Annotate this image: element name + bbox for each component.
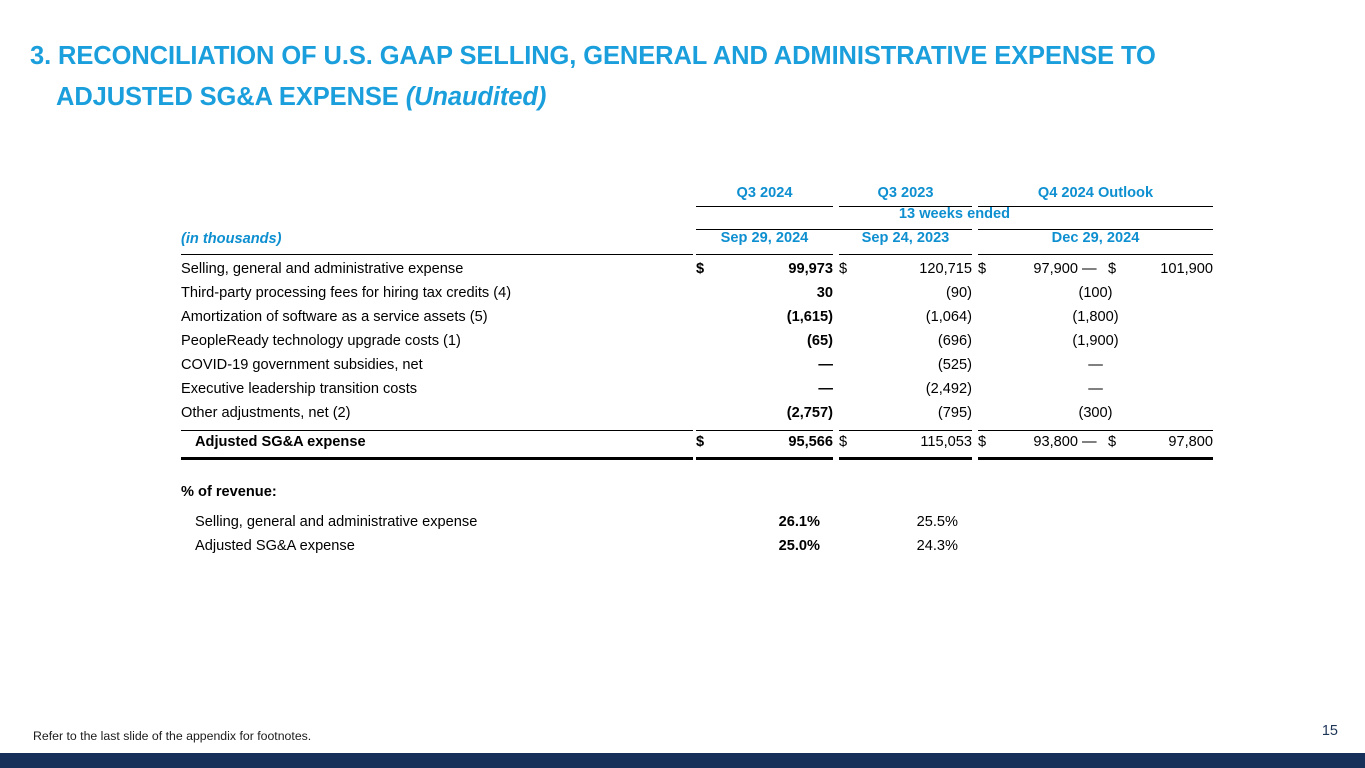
value: 120,715 xyxy=(919,261,972,277)
table-row: Amortization of software as a service as… xyxy=(181,309,1213,333)
page-title-line-2-text: ADJUSTED SG&A EXPENSE xyxy=(56,83,406,111)
table-header-date-row: Sep 29, 2024 Sep 24, 2023 Dec 29, 2024 xyxy=(181,230,1213,252)
rule-below-total-c xyxy=(978,457,1213,460)
row-value-q3-2024: — xyxy=(696,357,833,373)
row-value-q3-2023: (795) xyxy=(839,405,972,421)
percent-row: Adjusted SG&A expense 25.0% 24.3% xyxy=(181,538,1213,562)
table-total-row: Adjusted SG&A expense $95,566 $115,053 $… xyxy=(181,434,1213,458)
range-separator: — xyxy=(1082,434,1097,450)
rule-above-body-a xyxy=(696,254,833,255)
table-row: Executive leadership transition costs — … xyxy=(181,381,1213,405)
row-value-outlook: — xyxy=(978,381,1213,397)
row-label: Other adjustments, net (2) xyxy=(181,405,351,421)
row-value-outlook: (100) xyxy=(978,285,1213,301)
rule-above-total-c xyxy=(978,430,1213,431)
value: 95,566 xyxy=(788,434,833,450)
reconciliation-table: Q3 2024 Q3 2023 Q4 2024 Outlook 13 weeks… xyxy=(181,185,1213,252)
percent-value-q3-2024: 25.0% xyxy=(696,538,820,554)
total-value-q3-2023: $115,053 xyxy=(839,434,972,450)
rule-below-total-b xyxy=(839,457,972,460)
column-date-sep-24-2023: Sep 24, 2023 xyxy=(839,230,972,246)
row-label: PeopleReady technology upgrade costs (1) xyxy=(181,333,461,349)
column-header-q4-2024-outlook: Q4 2024 Outlook xyxy=(978,185,1213,201)
value-high: 97,800 xyxy=(1130,434,1213,450)
currency-symbol: $ xyxy=(839,261,847,277)
currency-symbol-high: $ xyxy=(1108,434,1116,450)
currency-symbol-low: $ xyxy=(978,261,986,277)
rule-below-total-labels xyxy=(181,457,693,460)
percent-value-q3-2023: 25.5% xyxy=(839,514,958,530)
row-label: Executive leadership transition costs xyxy=(181,381,417,397)
percent-value-q3-2024: 26.1% xyxy=(696,514,820,530)
row-value-q3-2024: (2,757) xyxy=(696,405,833,421)
row-value-q3-2023: (525) xyxy=(839,357,972,373)
row-value-q3-2024: (1,615) xyxy=(696,309,833,325)
value-high: 101,900 xyxy=(1130,261,1213,277)
row-value-q3-2024: 30 xyxy=(696,285,833,301)
page-title-line-2: ADJUSTED SG&A EXPENSE (Unaudited) xyxy=(30,77,1320,118)
row-value-q3-2023: $120,715 xyxy=(839,261,972,277)
footnote-reference: Refer to the last slide of the appendix … xyxy=(33,729,311,743)
rule-above-body-b xyxy=(839,254,972,255)
table-header-span-row: 13 weeks ended xyxy=(181,206,1213,229)
percent-of-revenue-section: % of revenue: Selling, general and admin… xyxy=(181,484,1213,562)
table-header-group-row: Q3 2024 Q3 2023 Q4 2024 Outlook xyxy=(181,185,1213,206)
page-title-unaudited: (Unaudited) xyxy=(406,83,547,111)
row-value-outlook: — xyxy=(978,357,1213,373)
column-header-13-weeks-ended: 13 weeks ended xyxy=(696,206,1213,222)
row-value-q3-2024: $99,973 xyxy=(696,261,833,277)
rule-above-body-c xyxy=(978,254,1213,255)
percent-row: Selling, general and administrative expe… xyxy=(181,514,1213,538)
table-row: COVID-19 government subsidies, net — (52… xyxy=(181,357,1213,381)
units-label: (in thousands) xyxy=(181,231,282,247)
row-label: Amortization of software as a service as… xyxy=(181,309,488,325)
currency-symbol-low: $ xyxy=(978,434,986,450)
table-row: Other adjustments, net (2) (2,757) (795)… xyxy=(181,405,1213,429)
row-label: COVID-19 government subsidies, net xyxy=(181,357,423,373)
row-value-q3-2023: (2,492) xyxy=(839,381,972,397)
row-label: Selling, general and administrative expe… xyxy=(181,261,463,277)
row-label: Third-party processing fees for hiring t… xyxy=(181,285,511,301)
value: 99,973 xyxy=(788,261,833,277)
range-separator: — xyxy=(1082,261,1097,277)
row-value-q3-2023: (696) xyxy=(839,333,972,349)
column-date-sep-29-2024: Sep 29, 2024 xyxy=(696,230,833,246)
page-title: 3. RECONCILIATION OF U.S. GAAP SELLING, … xyxy=(30,36,1320,119)
page-number: 15 xyxy=(1322,723,1338,739)
percent-row-label: Selling, general and administrative expe… xyxy=(195,514,477,530)
rule-above-body-labels xyxy=(181,254,693,255)
percent-section-heading: % of revenue: xyxy=(181,484,277,500)
table-body: Selling, general and administrative expe… xyxy=(181,261,1213,429)
rule-above-total-b xyxy=(839,430,972,431)
row-value-q3-2023: (90) xyxy=(839,285,972,301)
value-low: 93,800 xyxy=(1000,434,1078,450)
row-value-q3-2023: (1,064) xyxy=(839,309,972,325)
rule-above-total-labels xyxy=(181,430,693,431)
percent-value-q3-2023: 24.3% xyxy=(839,538,958,554)
rule-above-total-a xyxy=(696,430,833,431)
row-value-outlook: (300) xyxy=(978,405,1213,421)
percent-row-label: Adjusted SG&A expense xyxy=(195,538,355,554)
percent-section-heading-row: % of revenue: xyxy=(181,484,1213,514)
row-value-outlook: (1,800) xyxy=(978,309,1213,325)
table-row: PeopleReady technology upgrade costs (1)… xyxy=(181,333,1213,357)
currency-symbol: $ xyxy=(696,434,704,450)
currency-symbol: $ xyxy=(696,261,704,277)
table-row: Selling, general and administrative expe… xyxy=(181,261,1213,285)
value-low: 97,900 xyxy=(1000,261,1078,277)
row-value-q3-2024: — xyxy=(696,381,833,397)
column-header-q3-2024: Q3 2024 xyxy=(696,185,833,201)
currency-symbol: $ xyxy=(839,434,847,450)
total-row-label: Adjusted SG&A expense xyxy=(195,434,366,450)
page-title-line-1: 3. RECONCILIATION OF U.S. GAAP SELLING, … xyxy=(30,42,1156,70)
currency-symbol-high: $ xyxy=(1108,261,1116,277)
row-value-outlook: (1,900) xyxy=(978,333,1213,349)
table-row: Third-party processing fees for hiring t… xyxy=(181,285,1213,309)
row-value-q3-2024: (65) xyxy=(696,333,833,349)
column-date-dec-29-2024: Dec 29, 2024 xyxy=(978,230,1213,246)
bottom-accent-bar xyxy=(0,753,1365,768)
column-header-q3-2023: Q3 2023 xyxy=(839,185,972,201)
total-value-q3-2024: $95,566 xyxy=(696,434,833,450)
rule-below-total-a xyxy=(696,457,833,460)
value: 115,053 xyxy=(920,434,972,450)
